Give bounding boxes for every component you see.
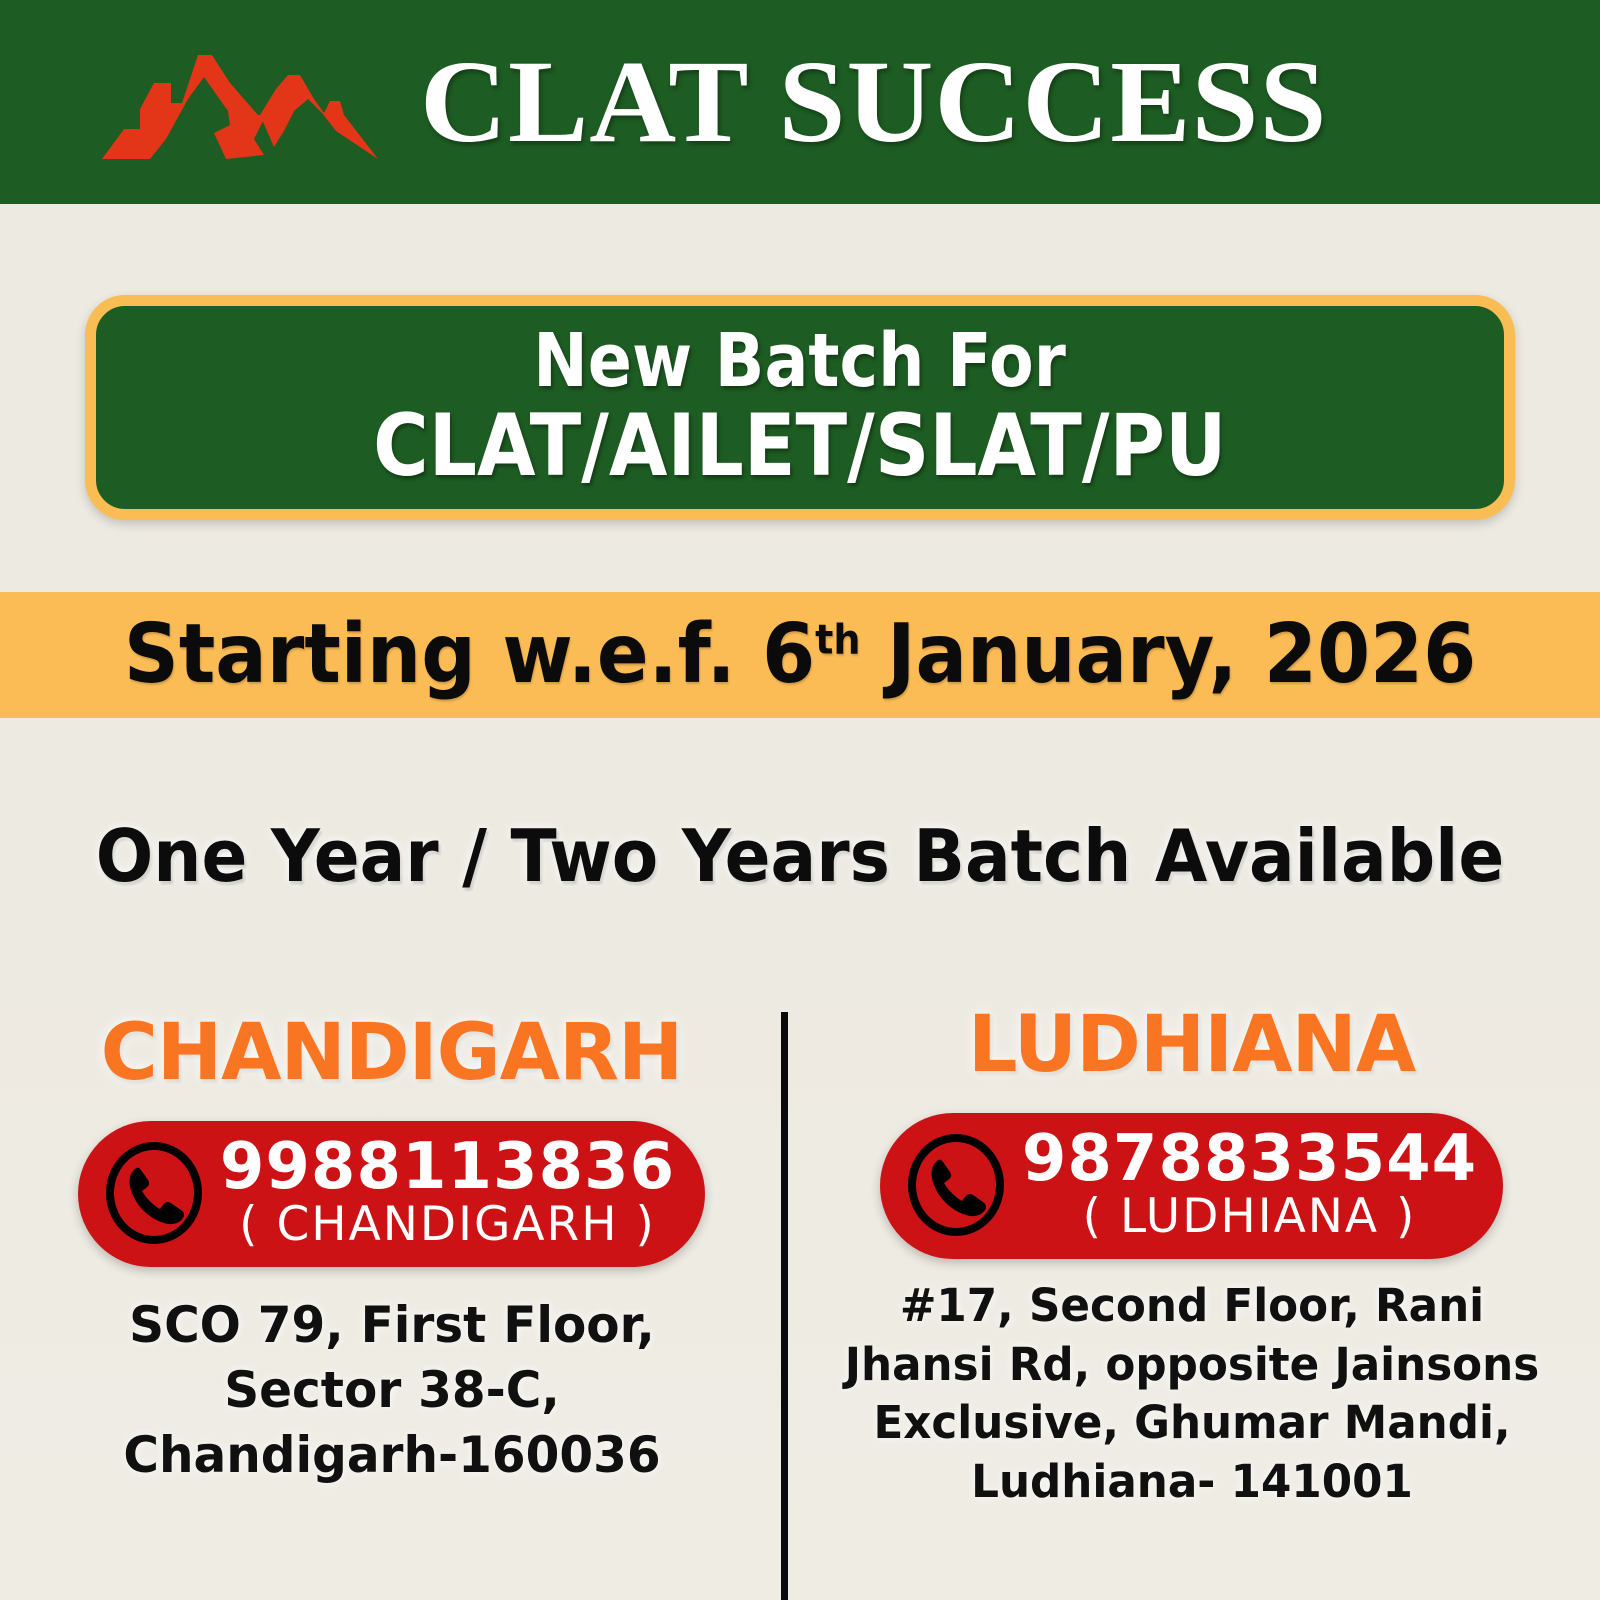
branch-address: SCO 79, First Floor, Sector 38-C, Chandi…: [81, 1293, 702, 1488]
phone-number: 9988113836: [220, 1135, 675, 1200]
batch-announcement-box: New Batch For CLAT/AILET/SLAT/PU: [85, 295, 1515, 520]
start-date-banner: Starting w.e.f. 6th January, 2026: [0, 592, 1600, 718]
branch-section: CHANDIGARH 9988113836 ( CHANDIGARH ) SCO…: [0, 1000, 1600, 1600]
branch-address: #17, Second Floor, Rani Jhansi Rd, oppos…: [842, 1277, 1540, 1511]
branch-city-name: LUDHIANA: [968, 1006, 1415, 1084]
start-date-prefix: Starting w.e.f. 6: [124, 607, 815, 702]
phone-city-label: ( LUDHIANA ): [1083, 1192, 1417, 1243]
phone-text-stack: 9988113836 ( CHANDIGARH ): [220, 1135, 675, 1251]
phone-number: 9878833544: [1022, 1127, 1477, 1192]
phone-contact-button[interactable]: 9878833544 ( LUDHIANA ): [880, 1113, 1503, 1259]
branch-chandigarh: CHANDIGARH 9988113836 ( CHANDIGARH ) SCO…: [0, 1000, 783, 1600]
phone-contact-button[interactable]: 9988113836 ( CHANDIGARH ): [78, 1121, 705, 1267]
header-bar: CLAT SUCCESS: [0, 0, 1600, 204]
phone-city-label: ( CHANDIGARH ): [239, 1200, 656, 1251]
mountain-icon: [78, 37, 398, 167]
phone-text-stack: 9878833544 ( LUDHIANA ): [1022, 1127, 1477, 1243]
column-divider: [781, 1012, 788, 1600]
branch-city-name: CHANDIGARH: [101, 1014, 683, 1092]
brand-title: CLAT SUCCESS: [420, 43, 1327, 161]
phone-icon: [102, 1141, 206, 1245]
start-date-suffix: January, 2026: [861, 607, 1477, 702]
phone-icon: [904, 1133, 1008, 1237]
batch-duration-subtitle: One Year / Two Years Batch Available: [48, 820, 1552, 892]
poster-root: CLAT SUCCESS New Batch For CLAT/AILET/SL…: [0, 0, 1600, 1600]
start-date-text: Starting w.e.f. 6th January, 2026: [124, 614, 1476, 696]
start-date-ordinal: th: [815, 616, 860, 664]
branch-ludhiana: LUDHIANA 9878833544 ( LUDHIANA ) #17, Se…: [783, 1000, 1600, 1600]
batch-line-primary: New Batch For: [534, 324, 1067, 399]
batch-line-exams: CLAT/AILET/SLAT/PU: [373, 403, 1226, 491]
